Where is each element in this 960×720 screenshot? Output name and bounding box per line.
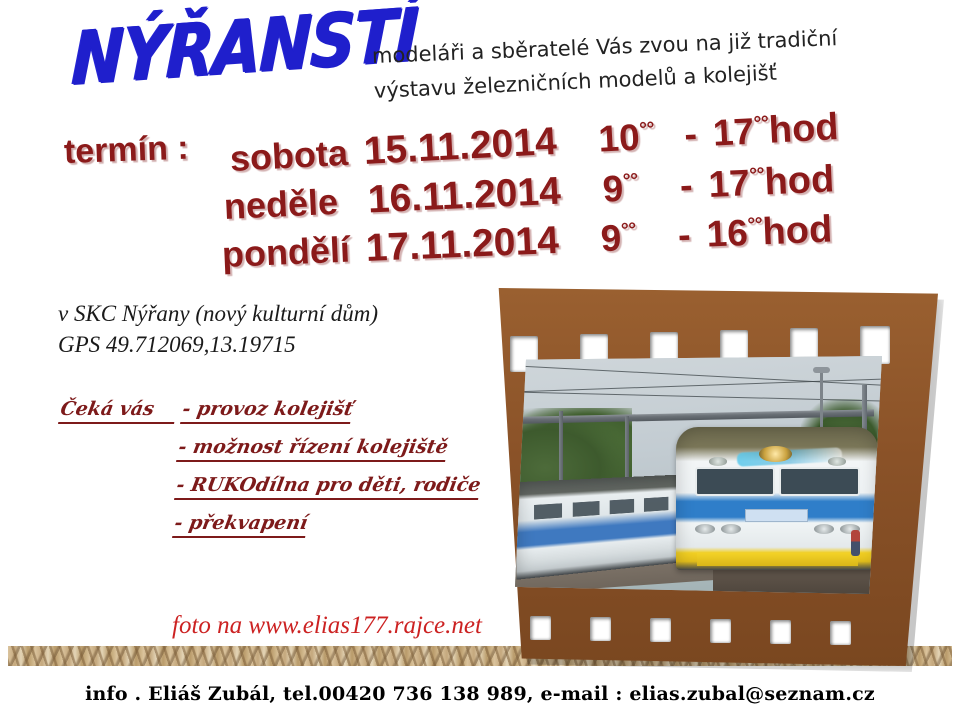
schedule-end-sup: °° [753,112,769,135]
list-item: - RUKOdílna pro děti, rodiče [174,474,482,500]
venue-block: v SKC Nýřany (nový kulturní dům) GPS 49.… [58,298,378,360]
operator-logo-icon [745,509,808,522]
schedule-date: 15.11.2014 [363,120,558,173]
schedule-start-sup: °° [620,219,636,242]
coach-window [573,500,600,517]
schedule-end: 17 [712,111,755,154]
locomotive-unit [676,427,878,570]
venue-gps: GPS 49.712069,13.19715 [58,329,378,360]
schedule-date: 17.11.2014 [365,219,560,270]
headlamp-icon [759,446,791,462]
poster-canvas: NÝŘANSTÍ modeláři a sběratelé Vás zvou n… [0,0,960,720]
sprocket-hole-icon [710,619,731,643]
person-on-platform [851,530,860,556]
schedule-start-sup: °° [639,118,655,141]
schedule-rows: sobota15.11.201410°°-17°°hod neděle16.11… [0,0,960,300]
schedule-day: neděle [223,181,339,227]
photo-credit-link[interactable]: foto na www.elias177.rajce.net [172,612,482,640]
sprocket-hole-icon [650,618,671,642]
schedule-dash: - [683,114,698,157]
schedule-unit: hod [768,106,840,152]
schedule-dash: - [679,165,694,208]
schedule-start: 10 [597,117,640,160]
front-buffer-beam [697,553,858,566]
schedule-unit: hod [762,208,833,253]
schedule-end-sup: °° [749,164,765,187]
marker-light-icon [828,457,846,466]
list-item: - provoz kolejišť [180,398,355,424]
buffer-lamp-icon [695,524,715,534]
schedule-end-sup: °° [747,214,763,237]
schedule-start: 9 [602,168,624,210]
sprocket-hole-icon [590,617,611,641]
schedule-date: 16.11.2014 [367,170,562,222]
coach-window [609,498,634,514]
schedule-day: pondělí [221,229,351,275]
sprocket-hole-icon [770,620,791,644]
list-item: - možnost řízení kolejiště [176,436,450,462]
schedule-start-sup: °° [622,170,638,193]
venue-place: v SKC Nýřany (nový kulturní dům) [58,298,378,329]
sprocket-hole-icon [530,616,551,640]
schedule-day: sobota [229,132,349,179]
attractions-heading: Čeká vás [58,398,179,424]
list-item: - překvapení [172,512,309,538]
marker-light-icon [709,457,727,466]
schedule-dash: - [677,214,691,256]
schedule-end: 16 [706,212,749,255]
schedule-end: 17 [708,162,751,205]
schedule-start: 9 [600,217,622,259]
train-photo [515,356,882,594]
filmstrip-photo-frame [468,282,960,674]
cab-window [695,467,776,495]
buffer-lamp-icon [721,524,741,534]
cab-window [779,467,860,495]
sprocket-hole-icon [830,621,851,645]
buffer-lamp-icon [814,524,834,534]
schedule-unit: hod [764,158,835,203]
coach-window [534,502,562,519]
contact-footer: info . Eliáš Zubál, tel.00420 736 138 98… [0,683,960,705]
coach-window [644,496,668,512]
